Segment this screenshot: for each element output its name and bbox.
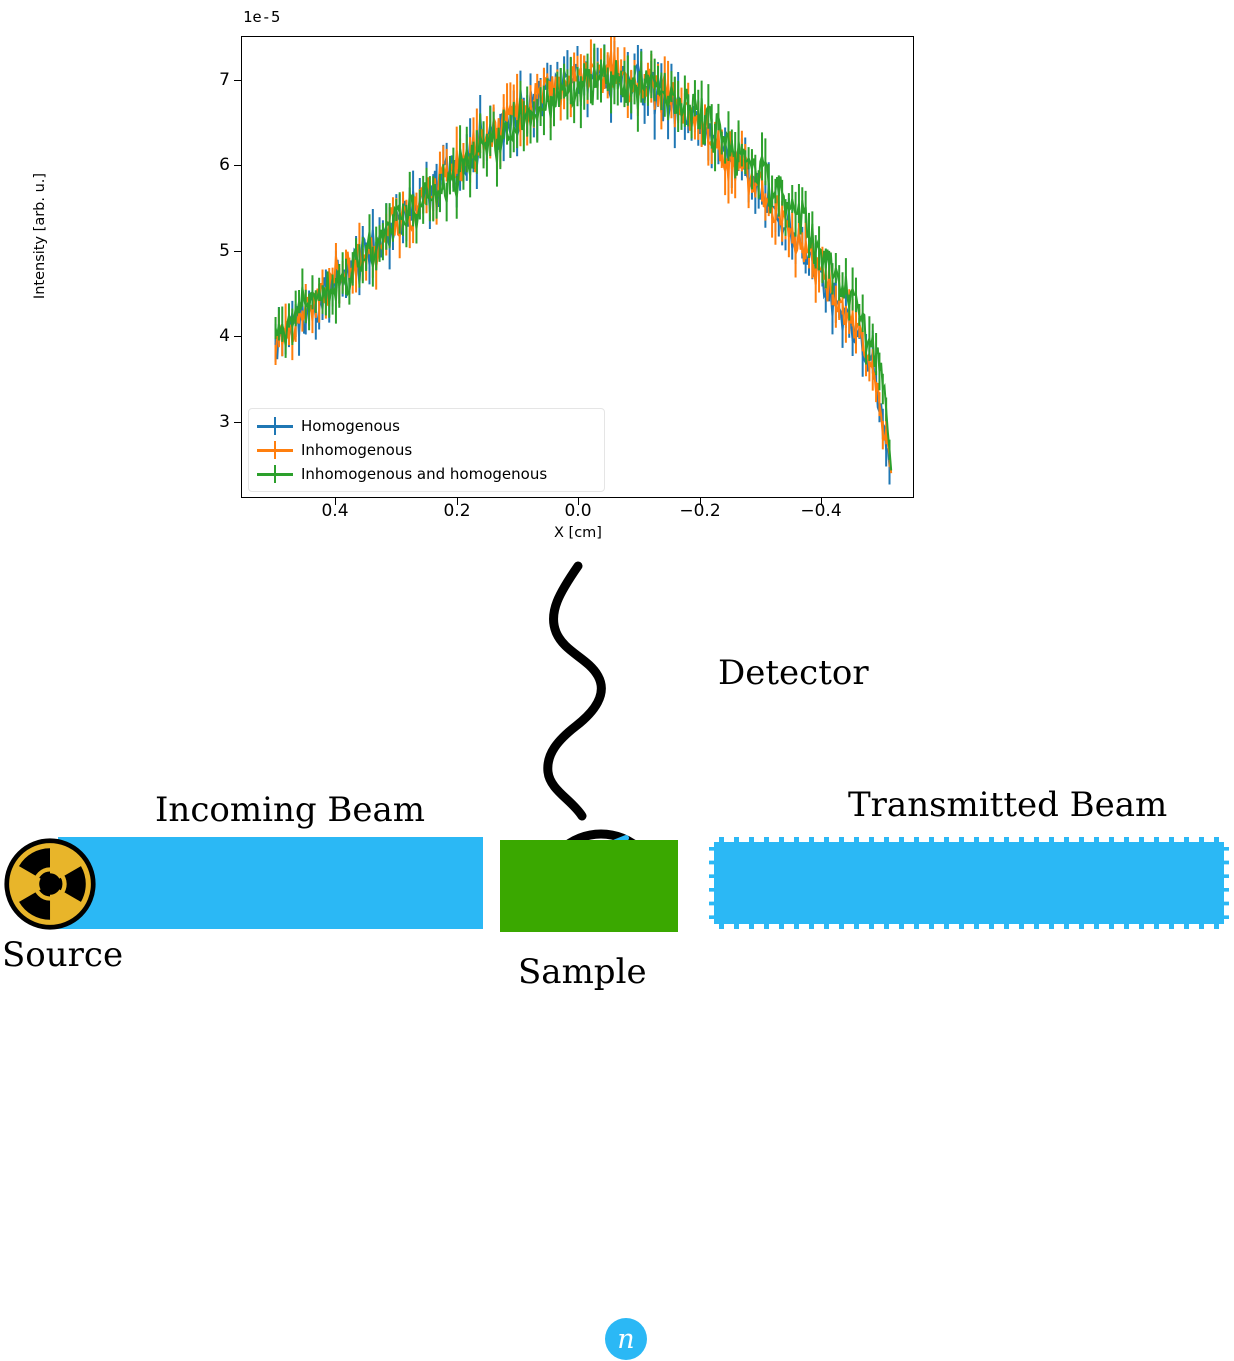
- label-source: Source: [2, 935, 123, 975]
- legend-item: Inhomogenous and homogenous: [257, 462, 596, 486]
- scattered-neutron-path: [548, 566, 602, 816]
- y-tick-mark-5: [234, 251, 241, 252]
- y-tick-mark-4: [234, 336, 241, 337]
- y-tick-label: 5: [219, 241, 230, 261]
- y-tick-mark-3: [234, 422, 241, 423]
- neutron-marker: n: [604, 1317, 648, 1361]
- y-tick-label: 7: [219, 70, 230, 90]
- incoming-beam-bar: [58, 837, 483, 929]
- legend-errorbar-icon: [257, 465, 293, 483]
- label-sample: Sample: [518, 952, 647, 992]
- y-tick-label: 4: [219, 326, 230, 346]
- x-tick-label: 0.0: [564, 501, 591, 521]
- label-transmitted-beam: Transmitted Beam: [848, 785, 1167, 825]
- x-tick-label: −0.4: [800, 501, 841, 521]
- y-tick-label: 3: [219, 412, 230, 432]
- x-axis-label: X [cm]: [554, 525, 602, 541]
- legend-label: Inhomogenous and homogenous: [301, 465, 547, 483]
- transmitted-beam-bar: [709, 837, 1229, 929]
- x-tick-label: −0.2: [679, 501, 720, 521]
- y-tick-mark-6: [234, 165, 241, 166]
- neutron-label: n: [617, 1324, 634, 1355]
- sample-block: [500, 840, 678, 932]
- label-detector: Detector: [718, 653, 869, 693]
- chart-legend: Homogenous Inhomogenous Inhomogenous and…: [248, 408, 605, 492]
- radiation-source-icon: [3, 837, 97, 931]
- legend-label: Inhomogenous: [301, 441, 412, 459]
- legend-errorbar-icon: [257, 417, 293, 435]
- intensity-chart: 1e-5 7 6 5 4 3 0.4 0.2 0.0: [0, 0, 1234, 560]
- y-tick-mark-7: [234, 80, 241, 81]
- legend-item: Homogenous: [257, 414, 596, 438]
- x-tick-label: 0.2: [443, 501, 470, 521]
- legend-item: Inhomogenous: [257, 438, 596, 462]
- y-tick-label: 6: [219, 155, 230, 175]
- experiment-schematic: n Source Incoming Beam Sample Detector T…: [0, 540, 1234, 997]
- figure-root: 1e-5 7 6 5 4 3 0.4 0.2 0.0: [0, 0, 1234, 997]
- legend-label: Homogenous: [301, 417, 400, 435]
- legend-errorbar-icon: [257, 441, 293, 459]
- y-axis-offset-label: 1e-5: [243, 8, 280, 26]
- x-tick-label: 0.4: [321, 501, 348, 521]
- y-axis-label: Intensity [arb. u.]: [32, 136, 48, 336]
- label-incoming-beam: Incoming Beam: [155, 790, 425, 830]
